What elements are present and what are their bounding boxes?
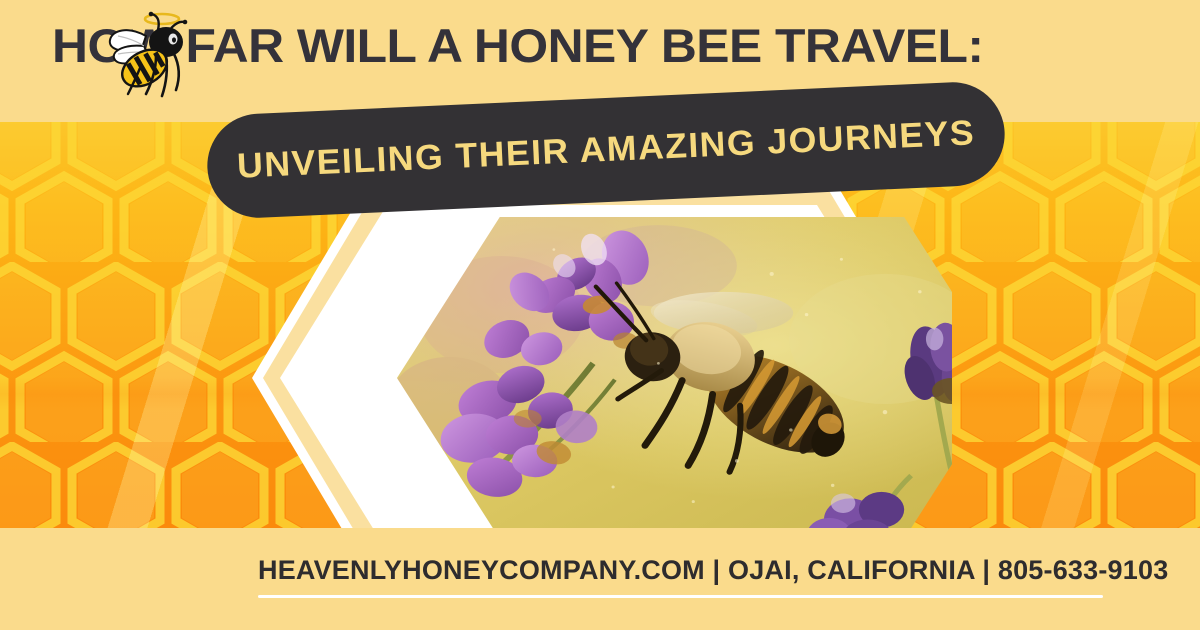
footer-contact-line[interactable]: HEAVENLYHONEYCOMPANY.COM | OJAI, CALIFOR… <box>258 555 1158 586</box>
hero-photo-svg <box>252 180 952 576</box>
subtitle-text: UNVEILING THEIR AMAZING JOURNEYS <box>236 113 976 186</box>
page-title: HOW FAR WILL A HONEY BEE TRAVEL: <box>52 22 1200 69</box>
hero-photo-frame <box>252 180 952 576</box>
poster-canvas: HOW FAR WILL A HONEY BEE TRAVEL: UNVEILI… <box>0 0 1200 630</box>
angel-bee-icon <box>98 8 204 104</box>
footer-divider <box>258 595 1103 598</box>
